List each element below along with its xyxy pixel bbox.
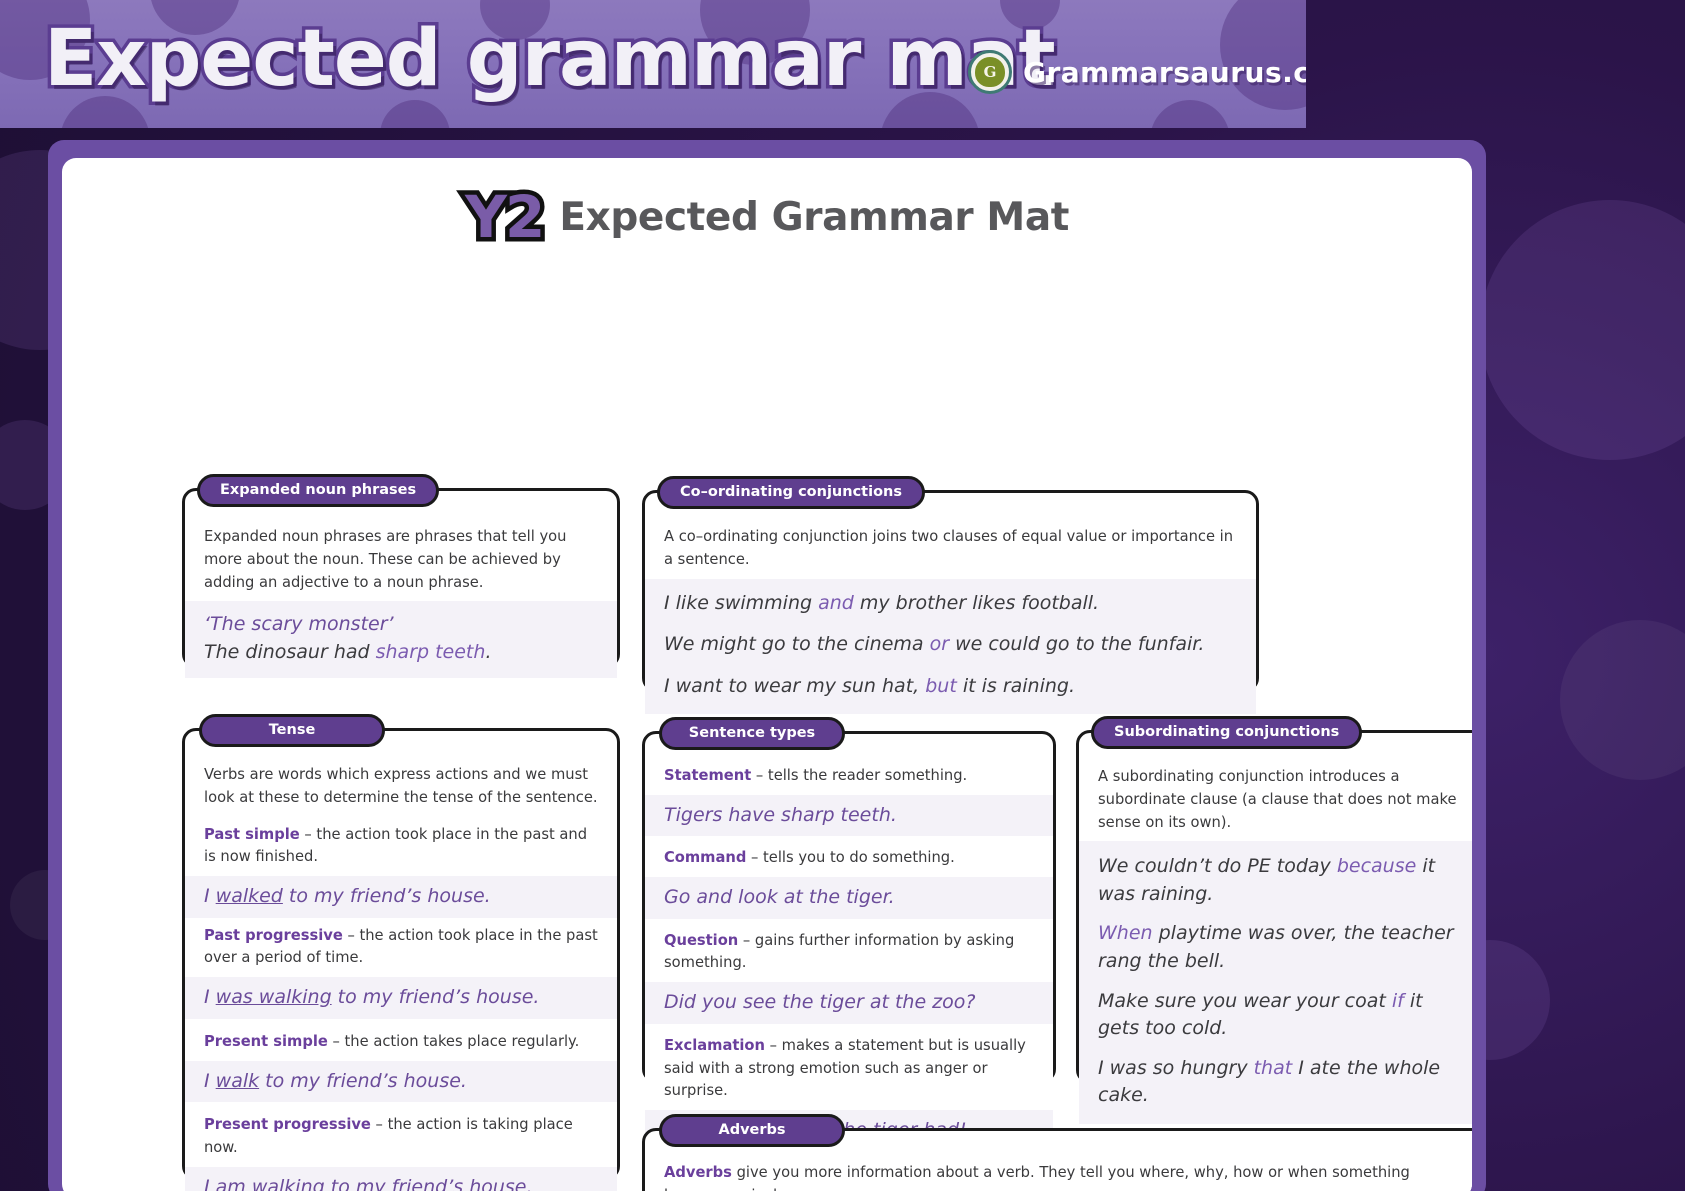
section-expanded-noun-phrases: Expanded noun phrases Expanded noun phra… <box>182 488 620 668</box>
example-line: I want to wear my sun hat, but it is rai… <box>664 673 1238 701</box>
section-subordinating-conjunctions: Subordinating conjunctions A subordinati… <box>1076 730 1472 1084</box>
section-tab-expanded-noun-phrases: Expanded noun phrases <box>197 474 439 507</box>
example-pre: I want to wear my sun hat, <box>664 675 925 697</box>
example-pre: ‘The scary monster’ <box>204 613 394 635</box>
example-pre: Make sure you wear your coat <box>1098 990 1392 1012</box>
entry-label: Adverbs <box>664 1164 732 1181</box>
entry-label: Statement <box>664 767 751 784</box>
entry-label: Exclamation <box>664 1037 765 1054</box>
example-post: to my friend’s house. <box>283 885 491 907</box>
example-post: my brother likes football. <box>854 592 1099 614</box>
entry-label: Present simple <box>204 1033 328 1050</box>
example-pre: I like swimming <box>664 592 818 614</box>
example-highlight: and <box>818 592 854 614</box>
example-row: I walked to my friend’s house. <box>185 876 617 918</box>
example-pre: I <box>204 885 216 907</box>
tense-entry-label: Present progressive – the action is taki… <box>185 1102 617 1167</box>
entry-description: – tells you to do something. <box>746 849 954 866</box>
example-line: ‘The scary monster’ <box>204 611 599 639</box>
tense-entry-label: Present simple – the action takes place … <box>185 1019 617 1061</box>
example-pre: We couldn’t do PE today <box>1098 855 1337 877</box>
brand-logo: G Grammarsaurus.co.uk <box>968 50 1306 94</box>
section-tense: Tense Verbs are words which express acti… <box>182 728 620 1180</box>
page-title: Expected Grammar Mat <box>559 195 1069 240</box>
tense-entry-label: Past progressive – the action took place… <box>185 918 617 978</box>
example-pre: I <box>204 1176 216 1191</box>
example-row: We couldn’t do PE today because it was r… <box>1079 841 1472 1123</box>
example-row: I was walking to my friend’s house. <box>185 977 617 1019</box>
example-underline: walked <box>216 885 283 907</box>
example-post: to my friend’s house. <box>259 1070 467 1092</box>
example-line: Make sure you wear your coat if it gets … <box>1098 988 1469 1043</box>
example-line: Did you see the tiger at the zoo? <box>664 989 1035 1017</box>
definition-text: Adverbs give you more information about … <box>645 1155 1472 1191</box>
entry-label: Past simple <box>204 826 300 843</box>
example-post: . <box>485 641 491 663</box>
example-pre: I <box>204 986 216 1008</box>
header-banner: Expected grammar mat G Grammarsaurus.co.… <box>0 0 1306 128</box>
sentence-type-label: Exclamation – makes a statement but is u… <box>645 1024 1053 1110</box>
section-tab-sentence-types: Sentence types <box>659 717 845 750</box>
example-highlight: if <box>1392 990 1404 1012</box>
example-underline: am walking <box>216 1176 325 1191</box>
example-line: I walk to my friend’s house. <box>204 1068 599 1096</box>
definition-text: A subordinating conjunction introduces a… <box>1079 759 1472 841</box>
example-pre: I <box>204 1070 216 1092</box>
example-line: We might go to the cinema or we could go… <box>664 631 1238 659</box>
sentence-type-label: Question – gains further information by … <box>645 919 1053 983</box>
example-row: I walk to my friend’s house. <box>185 1061 617 1103</box>
sentence-type-label: Command – tells you to do something. <box>645 836 1053 877</box>
section-adverbs: Adverbs Adverbs give you more informatio… <box>642 1128 1472 1191</box>
example-row: ‘The scary monster’ The dinosaur had sha… <box>185 601 617 678</box>
example-highlight: When <box>1098 922 1153 944</box>
example-highlight: that <box>1254 1057 1293 1079</box>
grammar-mat-page: Expected grammar mat G Grammarsaurus.co.… <box>0 0 1685 1191</box>
brand-name: Grammarsaurus.co.uk <box>1023 56 1306 89</box>
example-pre: The dinosaur had <box>204 641 376 663</box>
example-row: I like swimming and my brother likes foo… <box>645 579 1256 715</box>
example-row: I am walking to my friend’s house. <box>185 1167 617 1191</box>
example-row: Did you see the tiger at the zoo? <box>645 982 1053 1024</box>
sentence-type-label: Statement – tells the reader something. <box>645 758 1053 795</box>
section-tab-adverbs: Adverbs <box>659 1114 845 1147</box>
document-title-row: Y2 Expected Grammar Mat <box>62 188 1472 246</box>
tense-entry-label: Past simple – the action took place in t… <box>185 817 617 877</box>
banner-title: Expected grammar mat <box>44 14 1055 104</box>
section-sentence-types: Sentence types Statement – tells the rea… <box>642 731 1056 1083</box>
example-highlight: sharp teeth <box>376 641 486 663</box>
example-post: to my friend’s house. <box>332 986 540 1008</box>
entry-label: Present progressive <box>204 1116 371 1133</box>
example-pre: We might go to the cinema <box>664 633 930 655</box>
definition-text: A co–ordinating conjunction joins two cl… <box>645 519 1256 579</box>
entry-description: give you more information about a verb. … <box>664 1164 1410 1191</box>
section-tab-coordinating-conjunctions: Co–ordinating conjunctions <box>657 476 925 509</box>
entry-label: Past progressive <box>204 927 343 944</box>
definition-text: Verbs are words which express actions an… <box>185 757 617 817</box>
example-line: I was so hungry that I ate the whole cak… <box>1098 1055 1469 1110</box>
entry-description: – the action takes place regularly. <box>328 1033 579 1050</box>
example-line: When playtime was over, the teacher rang… <box>1098 920 1469 975</box>
example-line: I was walking to my friend’s house. <box>204 984 599 1012</box>
example-highlight: or <box>930 633 949 655</box>
grammar-mat-sheet: Y2 Expected Grammar Mat Expanded noun ph… <box>62 158 1472 1191</box>
example-row: Go and look at the tiger. <box>645 877 1053 919</box>
section-tab-subordinating-conjunctions: Subordinating conjunctions <box>1091 716 1362 749</box>
example-line: The dinosaur had sharp teeth. <box>204 639 599 667</box>
entry-description: – tells the reader something. <box>751 767 967 784</box>
example-underline: walk <box>216 1070 259 1092</box>
definition-text: Expanded noun phrases are phrases that t… <box>185 519 617 601</box>
example-underline: was walking <box>216 986 332 1008</box>
section-coordinating-conjunctions: Co–ordinating conjunctions A co–ordinati… <box>642 490 1259 692</box>
year-badge: Y2 <box>465 188 543 246</box>
example-row: Tigers have sharp teeth. <box>645 795 1053 837</box>
example-pre: I was so hungry <box>1098 1057 1254 1079</box>
example-post: it is raining. <box>957 675 1075 697</box>
example-highlight: but <box>925 675 957 697</box>
badge-letter: G <box>984 65 997 80</box>
example-line: Tigers have sharp teeth. <box>664 802 1035 830</box>
grammarsaurus-badge-icon: G <box>968 50 1012 94</box>
entry-label: Question <box>664 932 738 949</box>
example-highlight: because <box>1337 855 1416 877</box>
example-post: to my friend’s house. <box>325 1176 533 1191</box>
entry-label: Command <box>664 849 746 866</box>
example-line: We couldn’t do PE today because it was r… <box>1098 853 1469 908</box>
example-line: I like swimming and my brother likes foo… <box>664 590 1238 618</box>
example-line: I am walking to my friend’s house. <box>204 1174 599 1191</box>
example-line: I walked to my friend’s house. <box>204 883 599 911</box>
section-tab-tense: Tense <box>199 714 385 747</box>
example-post: we could go to the funfair. <box>949 633 1204 655</box>
example-line: Go and look at the tiger. <box>664 884 1035 912</box>
